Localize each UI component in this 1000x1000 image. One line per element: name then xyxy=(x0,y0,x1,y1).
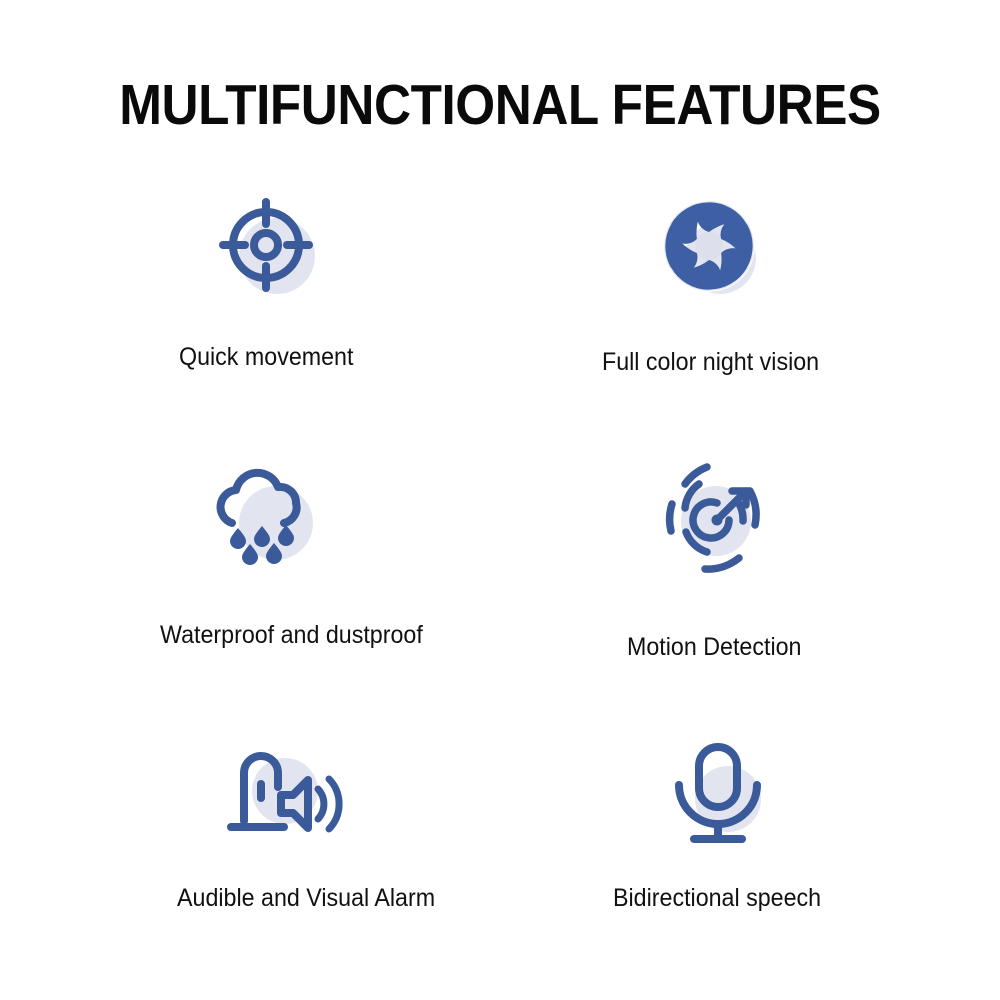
feature-item-alarm[interactable]: Audible and Visual Alarm xyxy=(0,703,500,970)
camera-aperture-icon xyxy=(652,192,772,312)
feature-label: Bidirectional speech xyxy=(613,883,821,913)
radar-motion-icon xyxy=(655,459,775,579)
feature-grid: Quick movement xyxy=(0,170,1000,970)
feature-label: Full color night vision xyxy=(602,347,819,377)
page-title: MULTIFUNCTIONAL FEATURES xyxy=(50,74,950,136)
feature-poster: MULTIFUNCTIONAL FEATURES Quick movemen xyxy=(0,0,1000,1000)
feature-label: Audible and Visual Alarm xyxy=(177,883,435,913)
feature-item-motion-detection[interactable]: Motion Detection xyxy=(500,437,1000,704)
feature-item-quick-movement[interactable]: Quick movement xyxy=(0,170,500,437)
alarm-siren-speaker-icon xyxy=(228,743,348,863)
microphone-icon xyxy=(668,743,788,863)
crosshair-target-icon xyxy=(210,192,330,312)
feature-label: Motion Detection xyxy=(627,632,801,662)
feature-label: Waterproof and dustproof xyxy=(160,620,423,650)
feature-label: Quick movement xyxy=(179,342,353,372)
feature-item-waterproof[interactable]: Waterproof and dustproof xyxy=(0,437,500,704)
feature-item-bidirectional-speech[interactable]: Bidirectional speech xyxy=(500,703,1000,970)
rain-cloud-icon xyxy=(208,460,328,580)
feature-item-night-vision[interactable]: Full color night vision xyxy=(500,170,1000,437)
